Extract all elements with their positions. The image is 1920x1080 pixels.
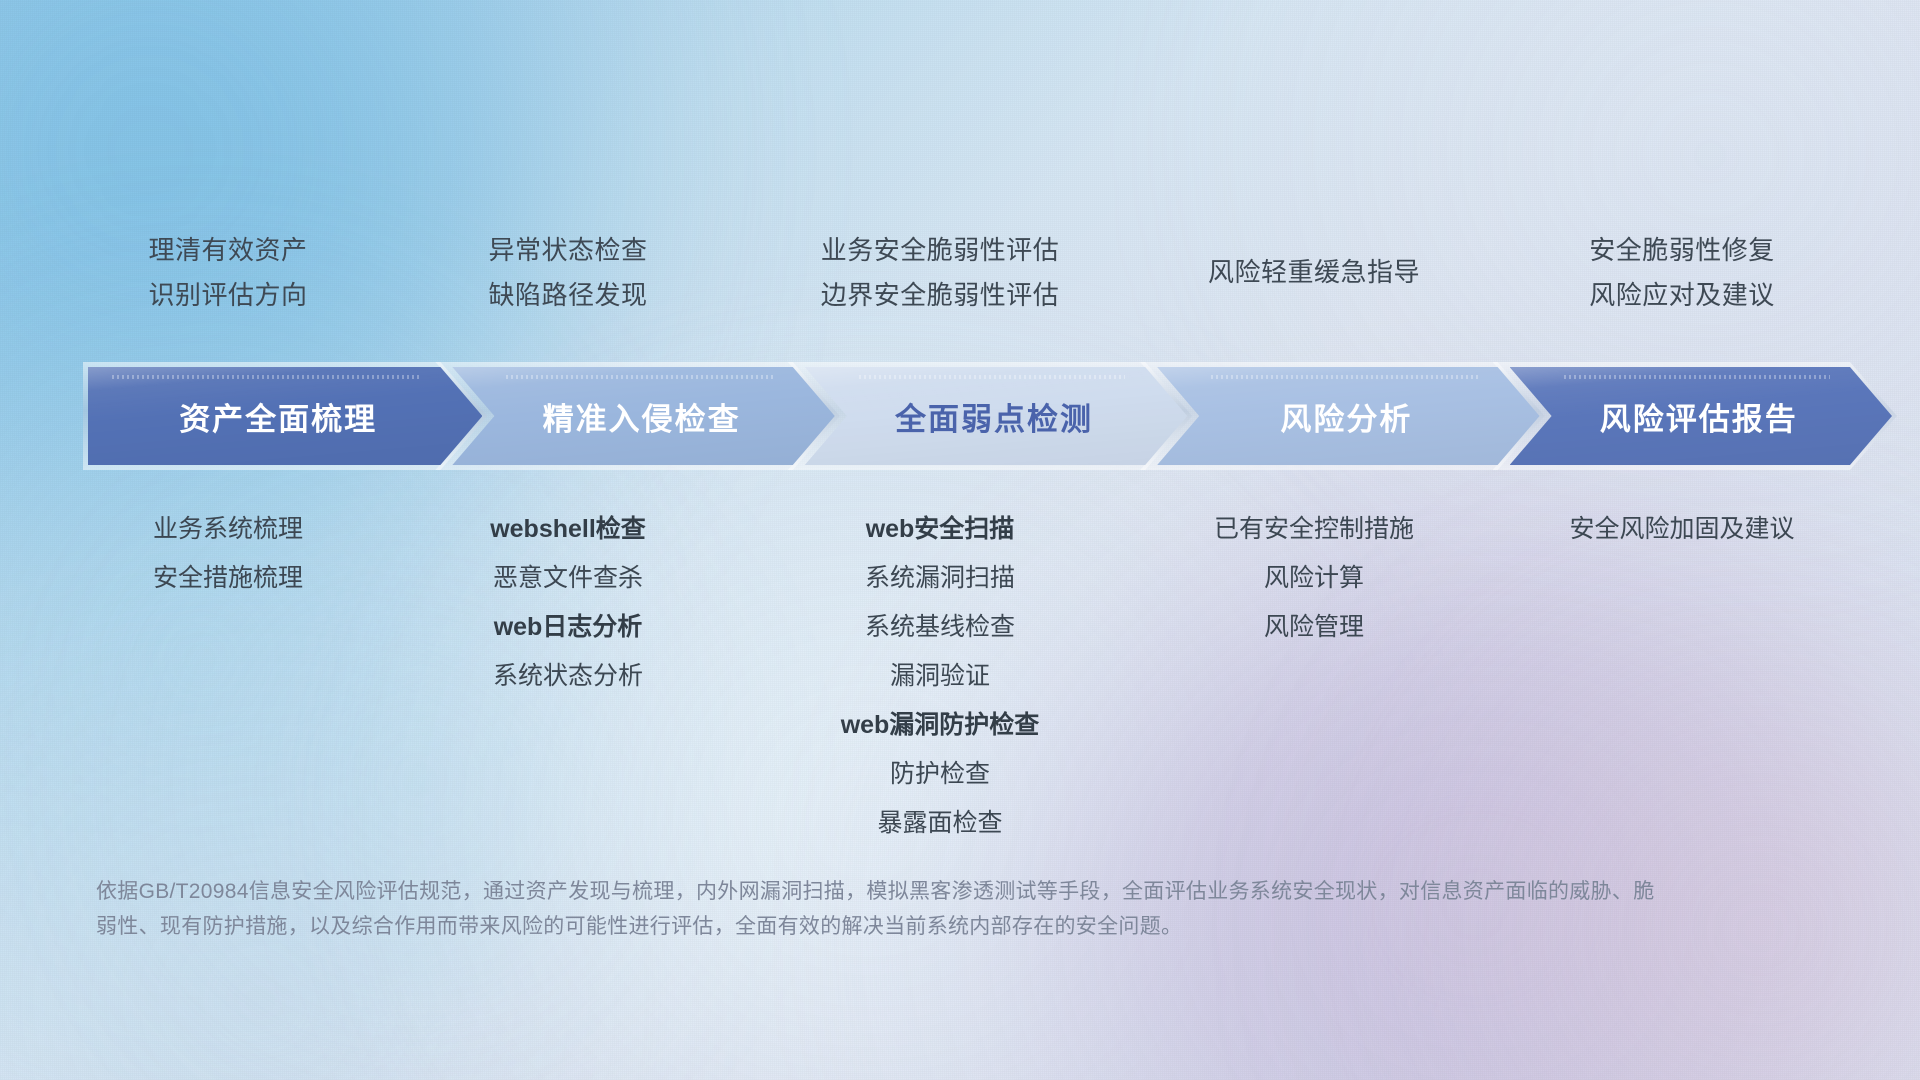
chevron-intrusion-check[interactable]: 精准入侵检查 (440, 367, 834, 465)
list-item: 漏洞验证 (640, 652, 1240, 701)
list-item: 风险管理 (1014, 603, 1614, 652)
chevron-label: 风险评估报告 (1600, 394, 1798, 439)
chevron-sheen (859, 375, 1125, 379)
chevron-sheen (1211, 375, 1477, 379)
process-diagram: 理清有效资产识别评估方向异常状态检查缺陷路径发现业务安全脆弱性评估边界安全脆弱性… (0, 0, 1920, 1080)
list-item: 暴露面检查 (640, 799, 1240, 848)
chevron-label: 风险分析 (1280, 394, 1412, 439)
list-item: 风险计算 (1014, 554, 1614, 603)
chevron-risk-report[interactable]: 风险评估报告 (1498, 367, 1892, 465)
chevron-asset-inventory[interactable]: 资产全面梳理 (88, 367, 482, 465)
chevron-label: 全面弱点检测 (895, 394, 1093, 439)
chevron-sheen (112, 375, 420, 379)
chevron-label: 资产全面梳理 (179, 394, 377, 439)
footer-description: 依据GB/T20984信息安全风险评估规范，通过资产发现与梳理，内外网漏洞扫描，… (96, 874, 1656, 944)
chevron-weakness-detection[interactable]: 全面弱点检测 (793, 367, 1187, 465)
top-label: 安全脆弱性修复 (1382, 228, 1920, 273)
top-labels-row: 理清有效资产识别评估方向异常状态检查缺陷路径发现业务安全脆弱性评估边界安全脆弱性… (0, 228, 1920, 338)
top-label: 风险应对及建议 (1382, 273, 1920, 318)
list-item: web漏洞防护检查 (640, 701, 1240, 750)
list-item: 安全风险加固及建议 (1382, 505, 1920, 554)
list-item: 防护检查 (640, 750, 1240, 799)
bottom-list-risk-report: 安全风险加固及建议 (1382, 505, 1920, 554)
chevron-label: 精准入侵检查 (543, 394, 741, 439)
chevron-risk-analysis[interactable]: 风险分析 (1145, 367, 1539, 465)
chevron-sheen (1564, 375, 1830, 379)
chevron-sheen (506, 375, 772, 379)
top-label-group-risk-report: 安全脆弱性修复风险应对及建议 (1382, 228, 1920, 318)
chevron-band: 资产全面梳理精准入侵检查全面弱点检测风险分析风险评估报告 (88, 367, 1850, 465)
